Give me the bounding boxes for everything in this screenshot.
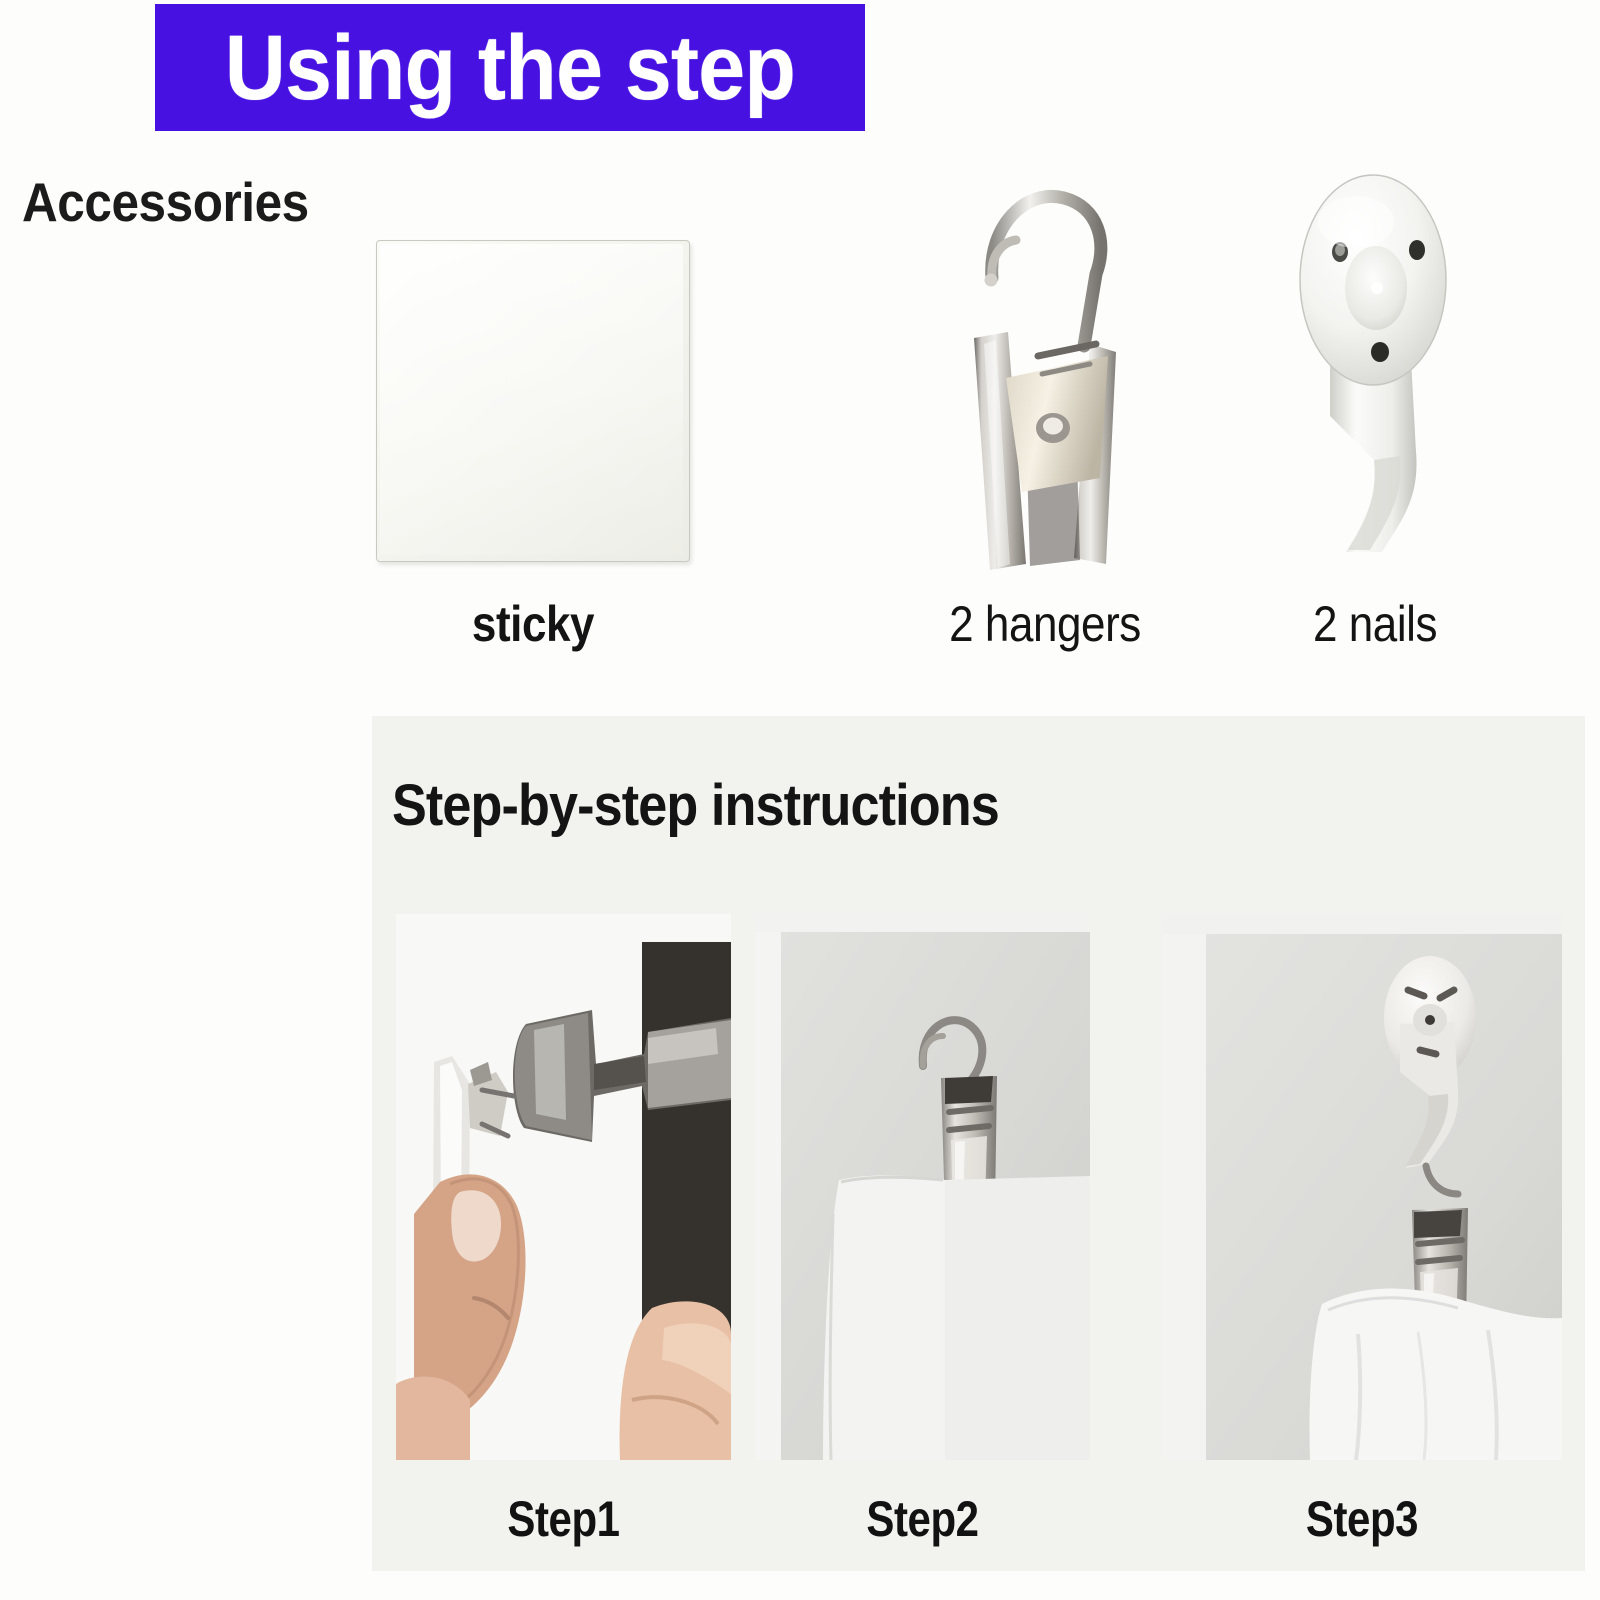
accessory-label-hangers: 2 hangers [917,595,1172,653]
white-wall-hook-nail-icon [1270,160,1480,580]
accessory-item-sticky: sticky [0,150,1066,670]
accessory-item-nails: 2 nails [1270,160,1480,580]
steps-row: Step1 [372,914,1585,1574]
step-label-2: Step2 [782,1490,1063,1548]
step-photo-1 [396,914,731,1460]
step-label-1: Step1 [423,1490,704,1548]
accessory-item-hangers: 2 hangers [930,160,1160,580]
metal-clip-hanger-icon [930,160,1160,580]
adhesive-square-pad-icon [376,240,690,562]
accessory-label-sticky: sticky [395,595,671,653]
accessory-label-nails: 2 nails [1247,595,1502,653]
instructions-panel: Step-by-step instructions [372,716,1585,1571]
step-photo-3 [1162,914,1562,1460]
title-banner: Using the step [155,4,865,131]
accessories-row: sticky [0,150,1600,670]
infographic-page: Using the step Accessories sticky [0,0,1600,1600]
step-photo-2 [755,914,1090,1460]
page-title: Using the step [225,16,795,120]
instructions-heading: Step-by-step instructions [392,772,999,839]
step-label-3: Step3 [1194,1490,1530,1548]
